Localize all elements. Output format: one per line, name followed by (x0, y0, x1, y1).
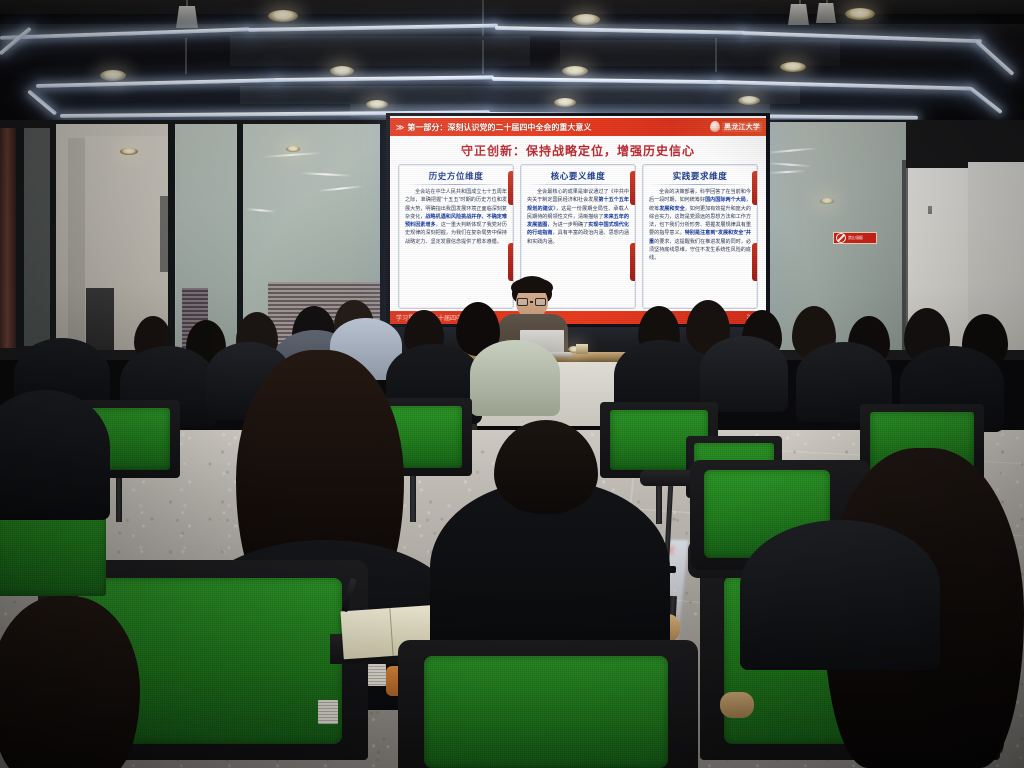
chair-leg (410, 476, 416, 522)
pendant-lamp-right-a (788, 4, 809, 25)
led-strip-2c (492, 77, 718, 84)
door-mullion (16, 126, 24, 348)
card-body: 全会的决策部署，科学回答了在当前和今后一段时期，如何統筹好国内国际两个大局，统筹… (643, 188, 757, 262)
presenter-hair-top (511, 278, 553, 293)
glass-downlight-reflection (286, 146, 300, 152)
lecture-hall-photo: 禁止吸烟 ≫ 第一部分：深刻认识党的二十届四中全会的重大意义 黑龙江大学 守正创… (0, 0, 1024, 768)
downlight-8 (366, 100, 388, 109)
notebook-spine (389, 608, 393, 656)
card-heading: 历史方位维度 (399, 165, 513, 184)
downlight-2 (572, 14, 600, 25)
no-smoking-sign: 禁止吸烟 (833, 232, 877, 244)
university-logo: 黑龙江大学 (710, 121, 762, 132)
ceiling-duct (230, 36, 530, 66)
card-accent-tab (752, 171, 758, 205)
glasses-lens-left (517, 298, 528, 306)
downlight-10 (738, 96, 760, 105)
presentation-slide: ≫ 第一部分：深刻认识党的二十届四中全会的重大意义 黑龙江大学 守正创新：保持战… (390, 116, 766, 324)
door-frame-left (0, 128, 16, 348)
led-strip-2-start (27, 89, 57, 115)
light-hanger-2 (482, 40, 484, 74)
floor-standing-unit (86, 288, 114, 350)
ceiling-rail (240, 86, 800, 104)
lecture-chair-front-center[interactable] (398, 640, 698, 768)
pendant-lamp-left (176, 6, 198, 28)
slide-header-text: 第一部分：深刻认识党的二十届四中全会的重大意义 (407, 122, 591, 133)
chair-mesh-panel (424, 656, 668, 768)
card-accent-tab (508, 171, 514, 205)
slide-header-bar: ≫ 第一部分：深刻认识党的二十届四中全会的重大意义 黑龙江大学 (390, 118, 766, 136)
downlight-4 (100, 70, 126, 81)
glass-panel-far-left (24, 128, 50, 346)
glass-inset-plate (160, 196, 173, 272)
slide-card-row: 历史方位维度 全会站在中华人民共和国成立七十五周年之际，准确把握“十五五”时期的… (398, 164, 758, 309)
led-strip-2b (274, 75, 494, 82)
light-hanger-1 (482, 0, 484, 36)
wall-downlight (120, 148, 138, 155)
audience-coat-dark (700, 336, 788, 412)
pendant-lamp-right-b (816, 3, 836, 23)
card-heading: 实践要求维度 (643, 165, 757, 184)
downlight-3 (845, 8, 875, 20)
slide-title: 守正创新：保持战略定位，增强历史信心 (390, 142, 766, 159)
card-rule (651, 184, 749, 185)
university-name: 黑龙江大学 (722, 122, 762, 132)
audience-long-hair (0, 596, 140, 768)
presenter-glasses-icon (517, 298, 546, 306)
led-strip-1-end (975, 40, 1015, 76)
audience-shoulders (740, 520, 940, 670)
card-accent-tab-lower (752, 243, 758, 281)
downlight-5 (330, 66, 354, 76)
card-accent-tab (630, 171, 636, 205)
wall-fixture-small (928, 206, 932, 214)
light-hanger-3 (185, 38, 187, 74)
audience-coat-cream (470, 340, 560, 416)
chair-leg (116, 478, 122, 522)
university-emblem-icon (710, 121, 720, 132)
no-smoking-label: 禁止吸烟 (848, 236, 862, 240)
glasses-lens-right (535, 298, 546, 306)
downlight-6 (562, 66, 588, 76)
downlight-7 (780, 62, 806, 72)
card-body: 全会站在中华人民共和国成立七十五周年之际，准确把握“十五五”时期的历史方位和发展… (399, 188, 513, 246)
card-body: 全会最核心的成果是审议通过了《中共中央关于制定国民经济和社会发展第十五个五年规划… (521, 188, 635, 246)
led-strip-2-end (969, 86, 1003, 114)
slide-card: 实践要求维度 全会的决策部署，科学回答了在当前和今后一段时期，如何統筹好国内国际… (642, 164, 758, 309)
light-hanger-4 (715, 38, 717, 72)
card-heading: 核心要义维度 (521, 165, 635, 184)
audience-coat-dark (0, 390, 110, 520)
card-accent-tab-lower (630, 243, 636, 281)
desk-object (576, 344, 588, 354)
card-rule (529, 184, 627, 185)
glasses-bridge (530, 301, 533, 302)
seat-number-tag (318, 700, 338, 724)
slide-card: 历史方位维度 全会站在中华人民共和国成立七十五周年之际，准确把握“十五五”时期的… (398, 164, 514, 309)
card-rule (407, 184, 505, 185)
no-smoking-icon (836, 233, 846, 243)
seat-number-tag (368, 664, 386, 686)
wall-edge-left (50, 124, 56, 350)
glass-right-downlight (820, 198, 834, 204)
chevron-icon: ≫ (396, 123, 403, 132)
downlight-1 (268, 10, 298, 22)
downlight-9 (554, 98, 576, 107)
shoe (720, 692, 754, 718)
